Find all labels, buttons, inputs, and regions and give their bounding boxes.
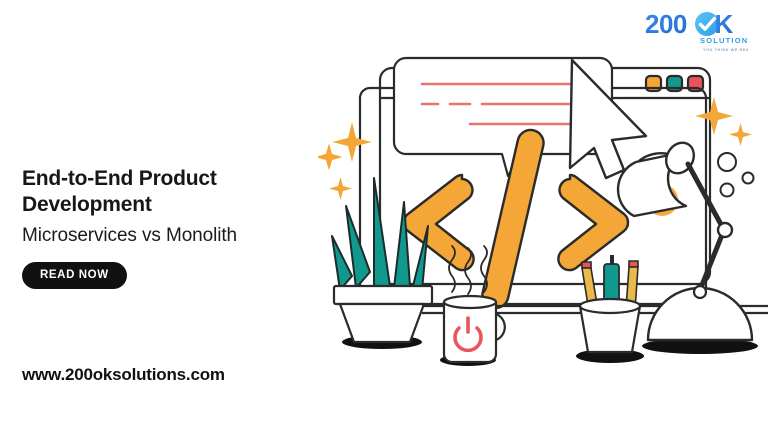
logo-company-word: SOLUTIONS bbox=[700, 36, 748, 45]
company-logo[interactable]: 200 K SOLUTIONS YOU THINK WE REALISE bbox=[644, 8, 748, 56]
headline-line-1: End-to-End Product bbox=[22, 167, 217, 190]
pencil-cup bbox=[576, 255, 644, 363]
copy-block: End-to-End Product Development Microserv… bbox=[22, 166, 342, 289]
website-url[interactable]: www.200oksolutions.com bbox=[22, 365, 225, 385]
page-title: End-to-End Product Development bbox=[22, 166, 342, 218]
developer-desk-illustration bbox=[318, 50, 768, 390]
bubbles bbox=[718, 153, 754, 197]
sparkles-left bbox=[318, 122, 372, 200]
headline-line-2: Development bbox=[22, 193, 152, 216]
logo-letter-k: K bbox=[715, 9, 734, 39]
promo-banner: 200 K SOLUTIONS YOU THINK WE REALISE End… bbox=[0, 0, 768, 432]
read-now-button[interactable]: READ NOW bbox=[22, 262, 127, 289]
page-subtitle: Microservices vs Monolith bbox=[22, 224, 342, 248]
logo-number: 200 bbox=[645, 9, 687, 39]
